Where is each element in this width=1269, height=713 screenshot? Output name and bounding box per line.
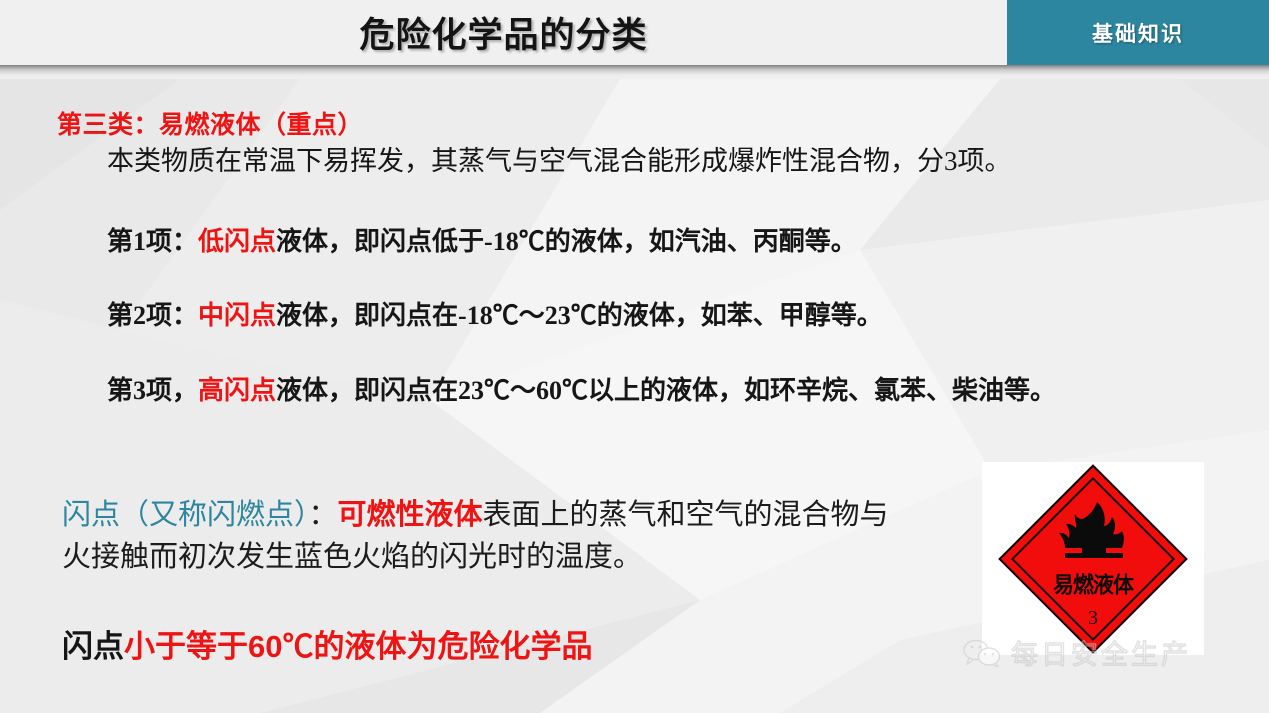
item-prefix: 第3项， — [107, 376, 198, 405]
page-title: 危险化学品的分类 — [0, 0, 1007, 65]
section-badge: 基础知识 — [1007, 0, 1269, 65]
item-prefix: 第1项： — [107, 227, 198, 256]
section-heading: 第三类：易燃液体（重点） — [57, 105, 363, 141]
list-item: 第1项：低闪点液体，即闪点低于-18℃的液体，如汽油、丙酮等。 — [55, 223, 1065, 261]
slide-header: 危险化学品的分类 基础知识 — [0, 0, 1269, 65]
watermark-text: 每日安全生产 — [1011, 633, 1191, 672]
item-highlight: 低闪点 — [198, 227, 276, 256]
conclusion-line: 闪点小于等于60℃的液体为危险化学品 — [62, 627, 592, 667]
intro-paragraph: 本类物质在常温下易挥发，其蒸气与空气混合能形成爆炸性混合物，分3项。 — [55, 141, 1055, 181]
list-item: 第2项：中闪点液体，即闪点在-18℃～23℃的液体，如苯、甲醇等。 — [55, 297, 1065, 335]
item-prefix: 第2项： — [107, 301, 198, 330]
item-rest: 液体，即闪点在-18℃～23℃的液体，如苯、甲醇等。 — [276, 301, 883, 330]
list-item: 第3项，高闪点液体，即闪点在23℃～60℃以上的液体，如环辛烷、氯苯、柴油等。 — [55, 372, 1065, 410]
placard-diamond — [998, 464, 1188, 654]
definition-term: 闪点（又称闪燃点） — [62, 499, 309, 531]
conclusion-emphasis: 小于等于60℃的液体为危险化学品 — [124, 629, 592, 664]
definition-paragraph: 闪点（又称闪燃点）：可燃性液体表面上的蒸气和空气的混合物与火接触而初次发生蓝色火… — [62, 494, 892, 578]
definition-colon: ： — [309, 499, 338, 531]
hazard-placard: 易燃液体 3 — [982, 462, 1204, 655]
item-rest: 液体，即闪点在23℃～60℃以上的液体，如环辛烷、氯苯、柴油等。 — [276, 376, 1056, 405]
item-highlight: 高闪点 — [198, 376, 276, 405]
slide-canvas: 危险化学品的分类 基础知识 第三类：易燃液体（重点） 本类物质在常温下易挥发，其… — [0, 0, 1269, 713]
item-rest: 液体，即闪点低于-18℃的液体，如汽油、丙酮等。 — [276, 227, 857, 256]
wechat-icon — [962, 639, 1002, 667]
header-shadow — [0, 65, 1269, 79]
watermark: 每日安全生产 — [962, 633, 1191, 672]
definition-highlight: 可燃性液体 — [338, 499, 483, 531]
item-highlight: 中闪点 — [198, 301, 276, 330]
conclusion-lead: 闪点 — [62, 629, 124, 664]
